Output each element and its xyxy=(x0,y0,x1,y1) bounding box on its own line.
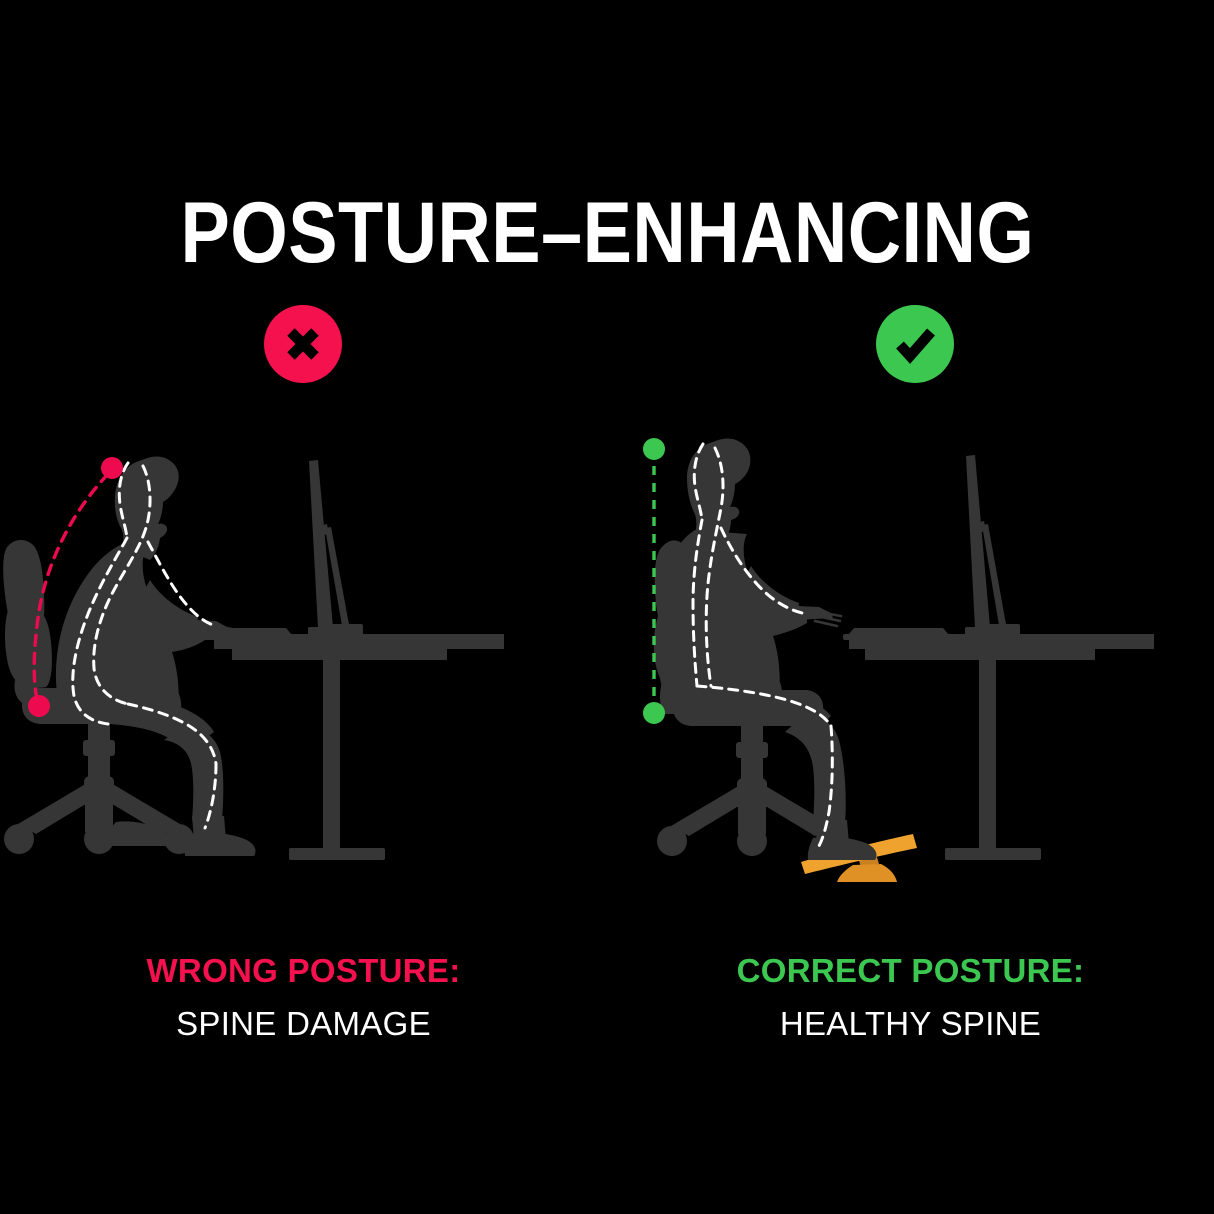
annotation-dot-bottom xyxy=(28,695,50,717)
page-title: POSTURE–ENHANCING xyxy=(180,190,1034,276)
keyboard-correct xyxy=(843,628,955,640)
caption-headline-wrong: WRONG POSTURE: xyxy=(0,952,607,991)
desk-correct xyxy=(849,634,1154,860)
panel-correct-posture: CORRECT POSTURE: HEALTHY SPINE xyxy=(607,296,1214,1096)
illustration-wrong-posture xyxy=(0,424,607,894)
desk-wrong xyxy=(214,634,504,860)
panel-wrong-posture: WRONG POSTURE: SPINE DAMAGE xyxy=(0,296,607,1096)
check-badge xyxy=(876,305,954,383)
comparison-panels: WRONG POSTURE: SPINE DAMAGE xyxy=(0,296,1214,1096)
annotation-dot-top xyxy=(101,457,123,479)
monitor-wrong xyxy=(308,460,363,635)
cross-badge xyxy=(264,305,342,383)
annotation-dot-bottom xyxy=(643,702,665,724)
caption-correct: CORRECT POSTURE: HEALTHY SPINE xyxy=(607,952,1214,1044)
annotation-dot-top xyxy=(643,438,665,460)
cross-icon xyxy=(264,305,342,383)
infographic-poster: POSTURE–ENHANCING xyxy=(0,0,1214,1214)
caption-wrong: WRONG POSTURE: SPINE DAMAGE xyxy=(0,952,607,1044)
caption-subline-correct: HEALTHY SPINE xyxy=(607,1005,1214,1044)
monitor-correct xyxy=(965,455,1020,635)
check-icon xyxy=(876,305,954,383)
illustration-correct-posture xyxy=(607,424,1214,894)
caption-subline-wrong: SPINE DAMAGE xyxy=(0,1005,607,1044)
caption-headline-correct: CORRECT POSTURE: xyxy=(607,952,1214,991)
